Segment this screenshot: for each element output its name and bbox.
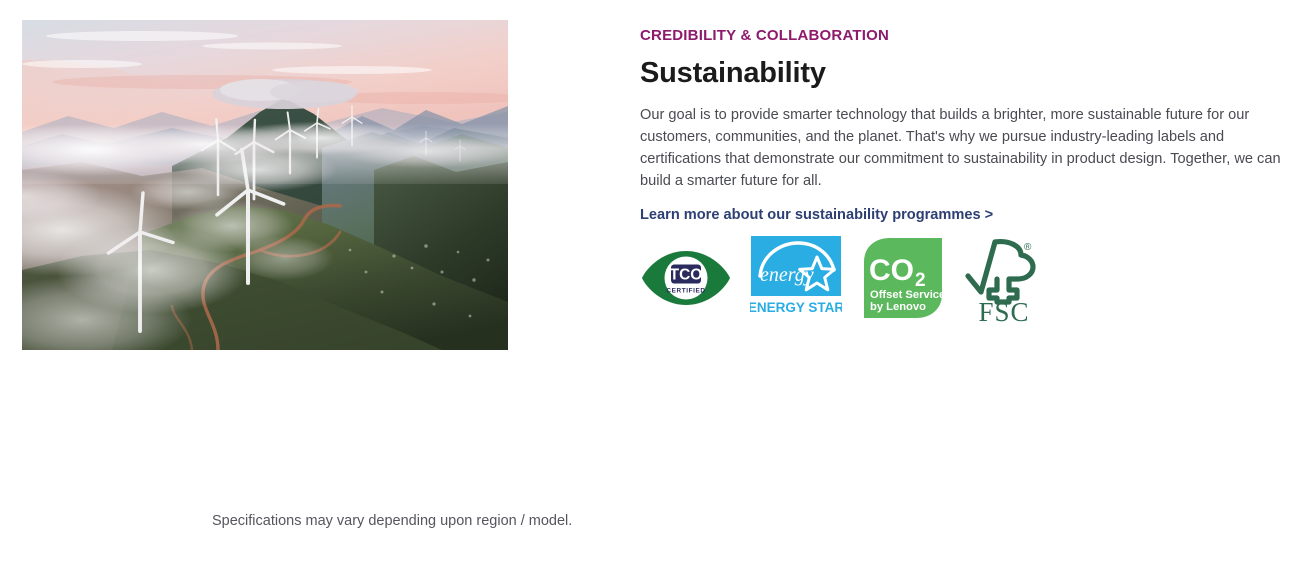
specifications-footnote: Specifications may vary depending upon r… <box>212 511 572 531</box>
energy-star-wordmark: ENERGY STAR <box>750 300 842 315</box>
tco-certified-text: CERTIFIED <box>666 288 705 295</box>
certification-logo-row: TCO CERTIFIED energy ENERGY STAR CO <box>640 232 1044 324</box>
tco-wordmark: TCO <box>670 267 703 284</box>
energy-star-icon: energy ENERGY STAR <box>750 236 842 320</box>
tco-certified-icon: TCO CERTIFIED <box>640 239 732 317</box>
learn-more-link[interactable]: Learn more about our sustainability prog… <box>640 207 993 223</box>
co2-line-offset-service: Offset Service <box>870 289 945 301</box>
section-eyebrow: CREDIBILITY & COLLABORATION <box>640 26 1300 46</box>
wind-turbine-mountain-photo <box>22 20 508 350</box>
fsc-logo[interactable]: ® FSC <box>964 232 1044 324</box>
fsc-registered-mark: ® <box>1024 242 1032 253</box>
co2-offset-service-logo[interactable]: CO 2 Offset Service by Lenovo <box>860 236 946 320</box>
section-content: CREDIBILITY & COLLABORATION Sustainabili… <box>640 26 1300 224</box>
page-title: Sustainability <box>640 57 1300 90</box>
tco-certified-logo[interactable]: TCO CERTIFIED <box>640 239 732 317</box>
co2-subscript: 2 <box>915 270 926 291</box>
fsc-wordmark: FSC <box>978 297 1029 324</box>
sustainability-section: CREDIBILITY & COLLABORATION Sustainabili… <box>0 0 1314 574</box>
co2-offset-icon: CO 2 Offset Service by Lenovo <box>860 236 946 320</box>
section-body-text: Our goal is to provide smarter technolog… <box>640 104 1300 193</box>
hero-image-wind-turbines <box>22 20 508 350</box>
fsc-icon: ® FSC <box>964 232 1044 324</box>
co2-wordmark: CO <box>869 254 914 287</box>
energy-star-logo[interactable]: energy ENERGY STAR <box>750 236 842 320</box>
co2-line-by-lenovo: by Lenovo <box>870 301 926 313</box>
